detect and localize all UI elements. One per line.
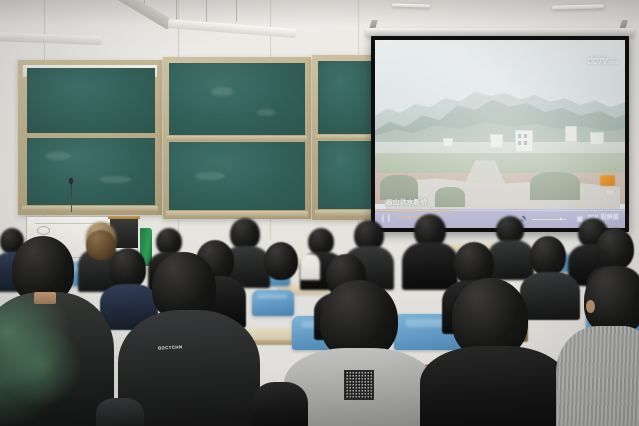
classroom-photo-scene: CCTV.com 特别 高山洪水断桥 记录洪水上涨瞬间的画面 9月5日 贵州省镇… — [0, 0, 639, 426]
student-striped-sweater — [556, 326, 639, 426]
student-body-white-shirt — [300, 254, 320, 280]
student-head-brown-hair — [86, 230, 116, 260]
chalkboard-panel-left — [18, 60, 162, 215]
student-body — [402, 242, 458, 290]
video-building — [590, 132, 604, 145]
student-head — [264, 242, 298, 280]
student-body — [520, 272, 580, 320]
ear — [586, 300, 595, 313]
student-black-jacket — [420, 346, 568, 426]
student-head — [110, 248, 146, 288]
student-head — [530, 236, 566, 276]
student-body — [252, 382, 308, 426]
ceiling-fluorescent-light-right — [128, 0, 268, 44]
video-orange-badge-label: 特别 — [606, 190, 614, 196]
video-title: 高山洪水断桥 — [386, 196, 427, 206]
projection-screen[interactable]: CCTV.com 特别 高山洪水断桥 记录洪水上涨瞬间的画面 9月5日 贵州省镇… — [371, 36, 629, 232]
microphone — [68, 178, 74, 212]
ceiling-shadow — [0, 0, 639, 26]
glasses — [596, 252, 608, 256]
student-head — [156, 228, 182, 255]
student-body — [96, 398, 144, 426]
video-orange-badge — [600, 175, 615, 186]
student-body — [488, 240, 534, 280]
hoodie-graphic-print — [344, 370, 374, 400]
cctv-watermark-label: CCTV — [587, 57, 607, 66]
video-vegetation — [435, 187, 465, 208]
chair[interactable] — [252, 290, 294, 316]
video-building — [565, 126, 577, 142]
student-head — [308, 228, 334, 255]
video-building — [443, 138, 453, 147]
audience-area: BDCTCHN — [0, 214, 639, 426]
cctv-watermark: CCTV.com — [587, 57, 618, 66]
video-frame: CCTV.com 特别 高山洪水断桥 记录洪水上涨瞬间的画面 9月5日 贵州省镇… — [375, 40, 625, 228]
video-building — [490, 134, 503, 148]
progress-fill — [375, 210, 453, 211]
video-building — [515, 130, 533, 152]
projection-screen-surface: CCTV.com 特别 高山洪水断桥 记录洪水上涨瞬间的画面 9月5日 贵州省镇… — [375, 40, 625, 228]
ceiling-fluorescent-light-left — [0, 28, 104, 42]
cctv-watermark-domain: .com — [607, 60, 618, 66]
video-vegetation — [530, 172, 580, 200]
chalkboard-panel-center — [163, 57, 311, 219]
neck — [34, 292, 56, 304]
student-head — [596, 228, 634, 270]
